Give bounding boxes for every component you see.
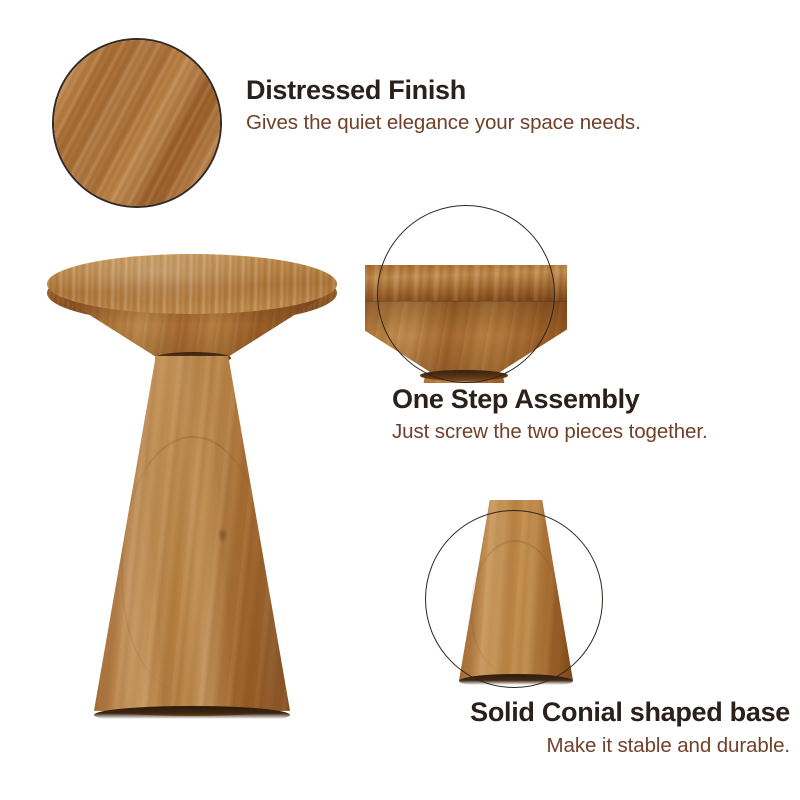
infographic-canvas: Distressed Finish Gives the quiet elegan… <box>0 0 800 800</box>
base-detail-circle <box>425 510 603 688</box>
feature-block-one-step-assembly: One Step Assembly Just screw the two pie… <box>392 385 708 444</box>
tabletop-highlight <box>47 254 337 314</box>
feature-subtitle: Make it stable and durable. <box>470 734 790 758</box>
callout-ring-outline <box>377 205 555 383</box>
feature-title: Distressed Finish <box>246 76 641 105</box>
floor-contact-shadow <box>94 706 290 724</box>
conical-base <box>94 356 290 720</box>
feature-subtitle: Gives the quiet elegance your space need… <box>246 111 641 135</box>
tabletop-surface <box>47 254 337 314</box>
feature-block-distressed-finish: Distressed Finish Gives the quiet elegan… <box>246 76 641 135</box>
feature-title: Solid Conial shaped base <box>470 698 790 727</box>
assembly-detail-circle <box>377 205 555 383</box>
base-shading <box>94 356 290 720</box>
feature-subtitle: Just screw the two pieces together. <box>392 420 708 444</box>
feature-block-solid-conical-base: Solid Conial shaped base Make it stable … <box>470 698 790 758</box>
callout-ring-outline <box>425 510 603 688</box>
feature-title: One Step Assembly <box>392 385 708 414</box>
